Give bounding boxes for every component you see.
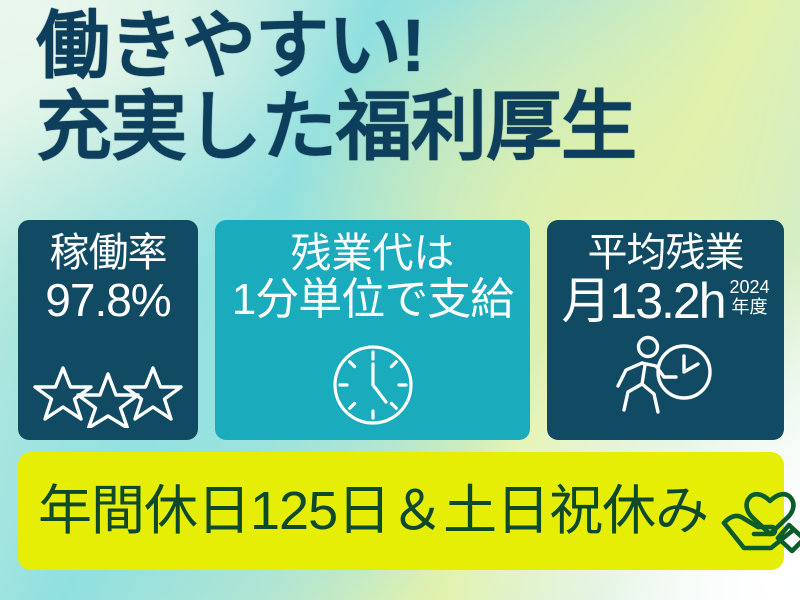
card-average-overtime-value-row: 月13.2h 2024 年度 xyxy=(561,276,769,326)
year-note-line-2: 年度 xyxy=(730,298,770,317)
card-average-overtime-label: 平均残業 xyxy=(588,232,744,274)
headline-line-1: 働きやすい! xyxy=(36,8,776,83)
card-overtime-pay-value: 1分単位で支給 xyxy=(232,277,513,324)
card-average-overtime-year-note: 2024 年度 xyxy=(730,278,770,317)
holidays-banner: 年間休日125日＆土日祝休み xyxy=(18,452,784,570)
clock-icon xyxy=(330,342,416,428)
page-title: 働きやすい! 充実した福利厚生 xyxy=(36,8,776,167)
stat-card-row: 稼働率 97.8% 残業代は 1分単位で支給 xyxy=(18,220,784,440)
running-person-clock-icon xyxy=(612,332,720,428)
card-utilization-label: 稼働率 xyxy=(50,232,167,274)
benefits-poster: 働きやすい! 充実した福利厚生 稼働率 97.8% 残業代は 1分単位で支給 xyxy=(0,0,800,600)
holidays-banner-text: 年間休日125日＆土日祝休み xyxy=(38,484,708,538)
card-overtime-pay-label: 残業代は xyxy=(291,232,455,275)
stat-card-overtime-pay: 残業代は 1分単位で支給 xyxy=(215,220,530,440)
card-average-overtime-value: 月13.2h xyxy=(561,276,724,326)
heart-in-hand-icon xyxy=(714,465,800,557)
stat-card-utilization-rate: 稼働率 97.8% xyxy=(18,220,198,440)
stat-card-average-overtime: 平均残業 月13.2h 2024 年度 xyxy=(547,220,784,440)
three-stars-icon xyxy=(33,364,183,428)
year-note-line-1: 2024 xyxy=(730,278,770,297)
card-utilization-value: 97.8% xyxy=(45,276,170,325)
headline-line-2: 充実した福利厚生 xyxy=(36,89,776,167)
